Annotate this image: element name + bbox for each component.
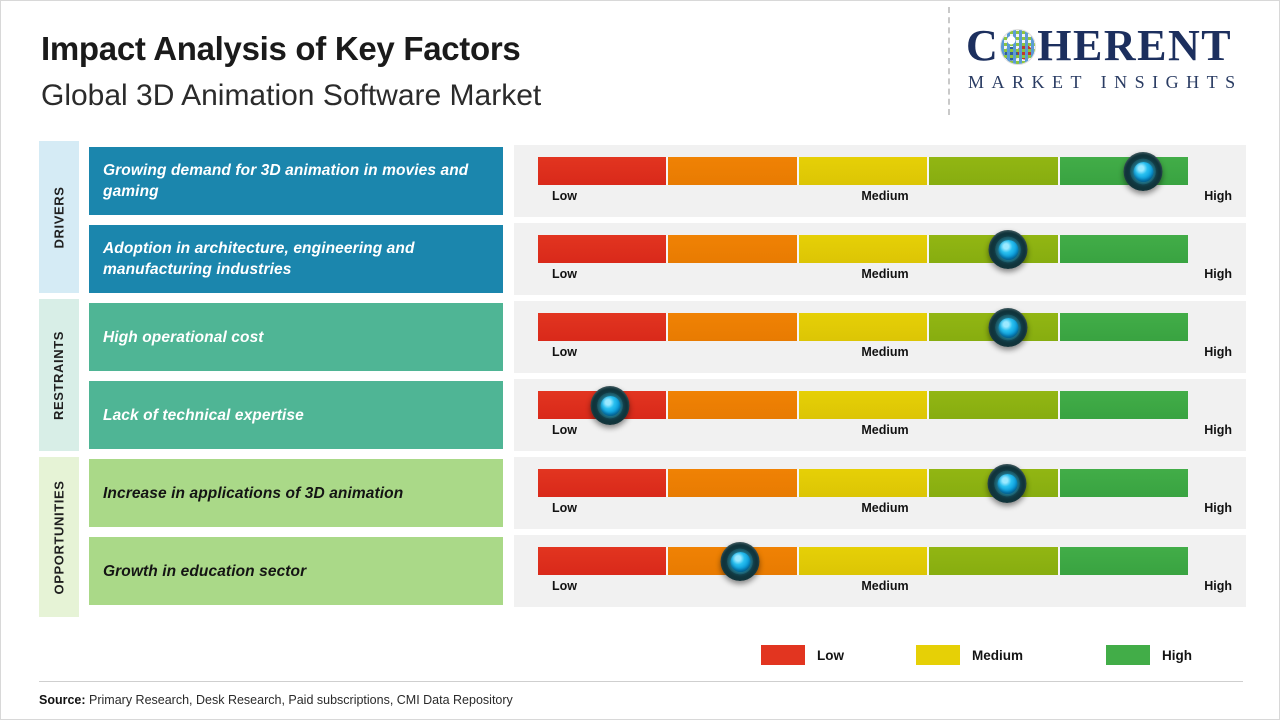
gauge-segment-5 xyxy=(1060,235,1188,263)
factor-box[interactable]: Growing demand for 3D animation in movie… xyxy=(89,147,503,215)
impact-gauge: Low Medium High xyxy=(514,223,1246,295)
legend-item-low: Low xyxy=(761,645,844,665)
legend-item-high: High xyxy=(1106,645,1192,665)
impact-gauge: Low Medium High xyxy=(514,379,1246,451)
header: Impact Analysis of Key Factors Global 3D… xyxy=(1,1,1280,133)
factor-box[interactable]: Lack of technical expertise xyxy=(89,381,503,449)
gauge-scale: Low Medium High xyxy=(538,501,1232,519)
scale-label-medium: Medium xyxy=(538,579,1232,593)
scale-label-high: High xyxy=(1204,423,1232,437)
gauge-scale: Low Medium High xyxy=(538,423,1232,441)
scale-label-high: High xyxy=(1204,189,1232,203)
gauge-segment-1 xyxy=(538,469,668,497)
scale-label-medium: Medium xyxy=(538,267,1232,281)
impact-gauge: Low Medium High xyxy=(514,535,1246,607)
gauge-track xyxy=(538,469,1188,497)
impact-marker[interactable] xyxy=(989,230,1028,269)
gauge-segment-2 xyxy=(668,313,798,341)
page-title: Impact Analysis of Key Factors xyxy=(41,29,541,69)
impact-marker[interactable] xyxy=(989,308,1028,347)
category-label-opportunities: OPPORTUNITIES xyxy=(39,457,79,617)
gauge-segment-3 xyxy=(799,157,929,185)
gauge-scale: Low Medium High xyxy=(538,345,1232,363)
factor-box[interactable]: Adoption in architecture, engineering an… xyxy=(89,225,503,293)
scale-label-high: High xyxy=(1204,579,1232,593)
impact-marker[interactable] xyxy=(721,542,760,581)
gauge-segment-2 xyxy=(668,235,798,263)
factor-label: Adoption in architecture, engineering an… xyxy=(103,238,489,280)
gauge-segment-4 xyxy=(929,157,1059,185)
source-divider xyxy=(39,681,1243,682)
page-subtitle: Global 3D Animation Software Market xyxy=(41,76,541,116)
impact-marker[interactable] xyxy=(988,464,1027,503)
gauge-scale: Low Medium High xyxy=(538,189,1232,207)
legend-swatch-medium xyxy=(916,645,960,665)
legend-label-medium: Medium xyxy=(972,648,1023,663)
gauge-segment-1 xyxy=(538,235,668,263)
impact-marker[interactable] xyxy=(1124,152,1163,191)
impact-gauge: Low Medium High xyxy=(514,301,1246,373)
gauge-segment-5 xyxy=(1060,313,1188,341)
logo-tagline: MARKET INSIGHTS xyxy=(966,72,1262,93)
category-label-opportunities-text: OPPORTUNITIES xyxy=(52,480,67,594)
legend-swatch-high xyxy=(1106,645,1150,665)
factor-label: Growth in education sector xyxy=(103,561,306,582)
legend: Low Medium High xyxy=(761,645,1201,669)
logo-letters-herent: HERENT xyxy=(1037,20,1232,71)
scale-label-high: High xyxy=(1204,345,1232,359)
gauge-track xyxy=(538,157,1188,185)
globe-icon xyxy=(1000,29,1036,65)
logo-wordmark: C HERENT xyxy=(966,21,1262,69)
logo-divider xyxy=(948,7,951,115)
gauge-segment-3 xyxy=(799,547,929,575)
category-label-restraints-text: RESTRAINTS xyxy=(52,330,67,419)
gauge-segment-5 xyxy=(1060,547,1188,575)
legend-label-low: Low xyxy=(817,648,844,663)
gauge-segment-2 xyxy=(668,391,798,419)
impact-marker[interactable] xyxy=(591,386,630,425)
brand-logo: C HERENT MARKET INSIGHTS xyxy=(966,21,1262,103)
scale-label-medium: Medium xyxy=(538,423,1232,437)
gauge-track xyxy=(538,235,1188,263)
gauge-track xyxy=(538,391,1188,419)
impact-gauge: Low Medium High xyxy=(514,457,1246,529)
impact-gauge: Low Medium High xyxy=(514,145,1246,217)
gauge-segment-3 xyxy=(799,313,929,341)
category-label-drivers-text: DRIVERS xyxy=(52,186,67,248)
gauge-segment-3 xyxy=(799,469,929,497)
gauge-segment-4 xyxy=(929,547,1059,575)
logo-letter-c: C xyxy=(966,20,999,71)
gauge-segment-3 xyxy=(799,235,929,263)
gauge-segment-5 xyxy=(1060,391,1188,419)
factor-box[interactable]: High operational cost xyxy=(89,303,503,371)
title-block: Impact Analysis of Key Factors Global 3D… xyxy=(41,29,541,116)
gauge-segment-1 xyxy=(538,313,668,341)
gauge-track xyxy=(538,547,1188,575)
factor-box[interactable]: Growth in education sector xyxy=(89,537,503,605)
legend-swatch-low xyxy=(761,645,805,665)
category-label-drivers: DRIVERS xyxy=(39,141,79,293)
infographic-canvas: Impact Analysis of Key Factors Global 3D… xyxy=(0,0,1280,720)
source-note: Source: Primary Research, Desk Research,… xyxy=(39,693,513,707)
factor-label: Growing demand for 3D animation in movie… xyxy=(103,160,489,202)
gauge-track xyxy=(538,313,1188,341)
legend-label-high: High xyxy=(1162,648,1192,663)
gauge-scale: Low Medium High xyxy=(538,267,1232,285)
category-label-restraints: RESTRAINTS xyxy=(39,299,79,451)
scale-label-medium: Medium xyxy=(538,189,1232,203)
factor-label: High operational cost xyxy=(103,327,264,348)
gauge-scale: Low Medium High xyxy=(538,579,1232,597)
factor-box[interactable]: Increase in applications of 3D animation xyxy=(89,459,503,527)
scale-label-high: High xyxy=(1204,267,1232,281)
source-label: Source: xyxy=(39,693,86,707)
gauge-segment-1 xyxy=(538,157,668,185)
gauge-segment-3 xyxy=(799,391,929,419)
gauge-segment-2 xyxy=(668,469,798,497)
source-text: Primary Research, Desk Research, Paid su… xyxy=(86,693,513,707)
gauge-segment-5 xyxy=(1060,469,1188,497)
impact-matrix: DRIVERS RESTRAINTS OPPORTUNITIES Growing… xyxy=(1,139,1280,619)
factor-label: Lack of technical expertise xyxy=(103,405,304,426)
gauge-segment-1 xyxy=(538,547,668,575)
scale-label-medium: Medium xyxy=(538,501,1232,515)
scale-label-medium: Medium xyxy=(538,345,1232,359)
factor-label: Increase in applications of 3D animation xyxy=(103,483,403,504)
scale-label-high: High xyxy=(1204,501,1232,515)
gauge-segment-4 xyxy=(929,391,1059,419)
legend-item-medium: Medium xyxy=(916,645,1023,665)
gauge-segment-2 xyxy=(668,157,798,185)
